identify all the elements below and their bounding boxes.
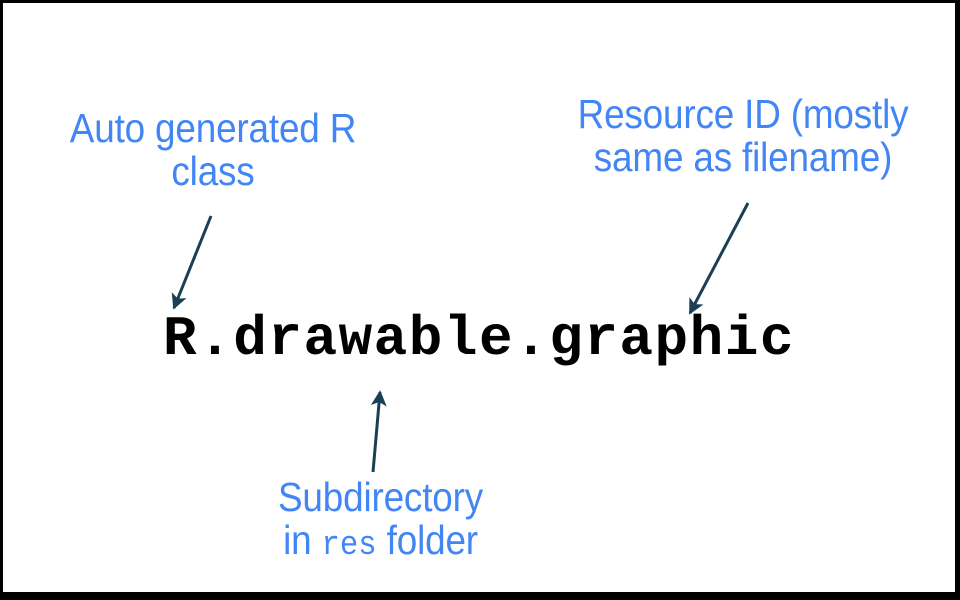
annotation-label-subdirectory: Subdirectory in res folder [225,476,536,564]
annotation-label-r-class: Auto generated R class [42,107,384,194]
arrow-down-left-icon-resource-id [690,203,748,313]
slide-canvas: Auto generated R class Resource ID (most… [3,3,955,592]
subdirectory-res-token: res [322,527,377,565]
code-string: R.drawable.graphic [3,307,955,371]
annotation-label-resource-id: Resource ID (mostly same as filename) [545,93,941,180]
slide-frame: Auto generated R class Resource ID (most… [0,0,960,600]
arrow-up-icon-subdirectory [373,392,380,472]
arrow-down-left-icon-r-class [174,216,211,308]
subdirectory-text-after: folder [377,517,478,563]
